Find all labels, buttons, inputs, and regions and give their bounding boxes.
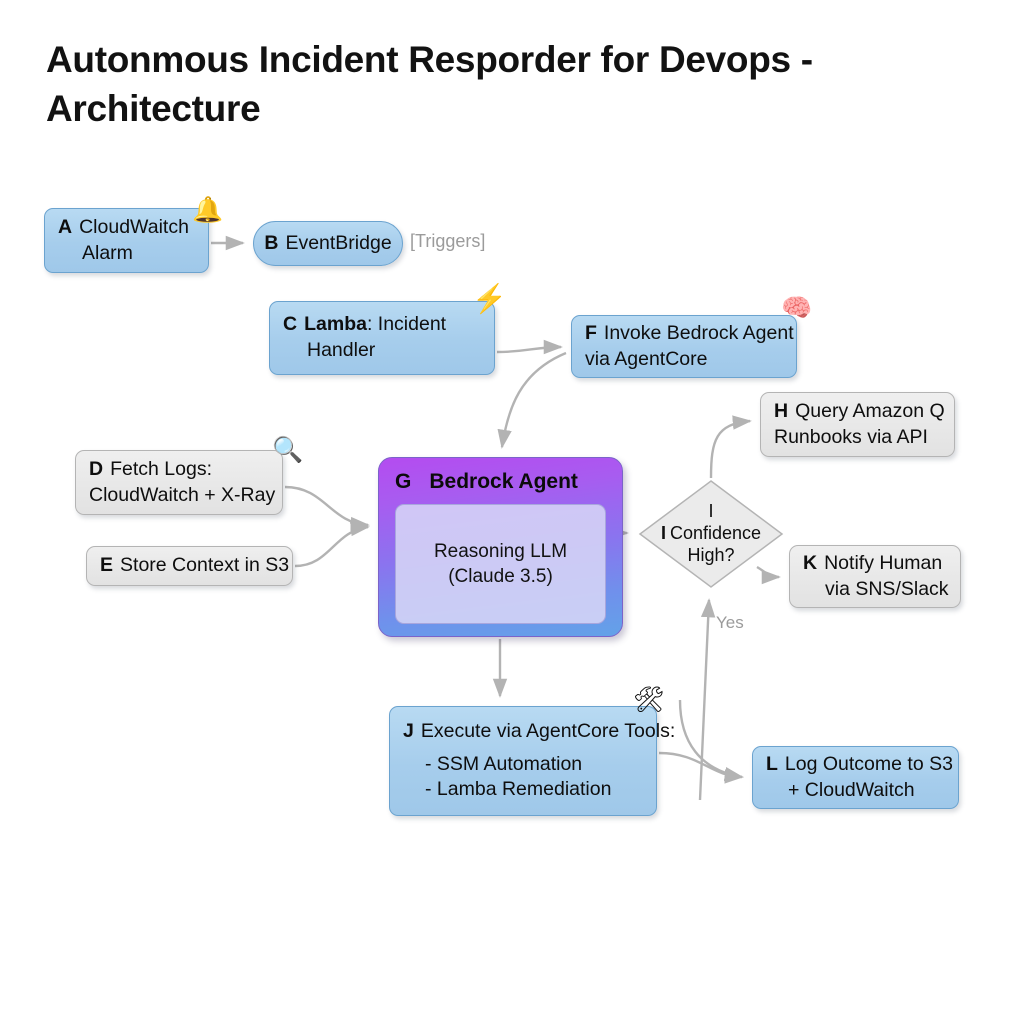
lightning-bolt-icon: ⚡ (472, 285, 507, 313)
node-c-line2: Handler (307, 338, 481, 364)
alarm-bell-icon: 🔔 (192, 198, 223, 223)
node-k-key: K (803, 552, 817, 574)
node-i-label: I IConfidence High? (637, 478, 785, 590)
node-i-line2: High? (687, 545, 734, 567)
node-g-bedrock-agent[interactable]: GBedrock Agent Reasoning LLM (Claude 3.5… (378, 457, 623, 637)
edge-f-to-g (502, 353, 566, 447)
node-c-key: C (283, 313, 297, 335)
node-a-key: A (58, 216, 72, 238)
node-k-notify-human[interactable]: KNotify Human via SNS/Slack (789, 545, 961, 608)
node-a-line1: CloudWaitch (79, 216, 189, 238)
node-j-line3: - Lamba Remediation (425, 777, 643, 803)
node-j-execute-agentcore-tools[interactable]: JExecute via AgentCore Tools: - SSM Auto… (389, 706, 657, 816)
node-f-line1: Invoke Bedrock Agent (604, 322, 794, 344)
node-e-store-context-s3[interactable]: EStore Context in S3 (86, 546, 293, 586)
edge-label-triggers: [Triggers] (410, 231, 485, 252)
brain-icon: 🧠 (781, 296, 812, 321)
node-l-log-outcome[interactable]: LLog Outcome to S3 + CloudWaitch (752, 746, 959, 809)
node-f-line2: via AgentCore (585, 347, 783, 373)
edge-k-to-l (680, 700, 742, 777)
node-d-line2: CloudWaitch + X-Ray (89, 483, 269, 509)
node-i-line1: Confidence (670, 523, 761, 543)
node-i-confidence-decision[interactable]: I IConfidence High? (637, 478, 785, 590)
node-g-key: G (395, 470, 411, 493)
node-f-key: F (585, 322, 597, 344)
node-d-fetch-logs[interactable]: DFetch Logs: CloudWaitch + X-Ray (75, 450, 283, 515)
node-g-inner-line2: (Claude 3.5) (448, 564, 553, 589)
node-c-lambda-incident-handler[interactable]: CLamba: Incident Handler (269, 301, 495, 375)
node-b-key: B (264, 231, 278, 257)
node-c-strong: Lamba (304, 313, 367, 335)
node-l-line2: + CloudWaitch (788, 778, 945, 804)
node-e-key: E (100, 554, 113, 576)
node-k-line2: via SNS/Slack (825, 577, 947, 603)
node-e-line1: Store Context in S3 (120, 554, 289, 576)
node-j-line1: Execute via AgentCore Tools: (421, 720, 675, 742)
node-g-title-row: GBedrock Agent (395, 470, 606, 494)
edge-j-to-i (700, 600, 709, 800)
node-l-key: L (766, 753, 778, 775)
node-a-cloudwatch-alarm[interactable]: ACloudWaitch Alarm (44, 208, 209, 273)
edge-e-to-g (295, 527, 368, 566)
node-i-key: I (661, 523, 666, 543)
node-g-title: Bedrock Agent (429, 470, 578, 493)
node-h-line2: Runbooks via API (774, 425, 941, 451)
node-c-line1: : Incident (367, 313, 446, 335)
magnifier-icon: 🔍 (272, 438, 303, 463)
node-d-key: D (89, 458, 103, 480)
edge-c-to-f (497, 347, 561, 352)
edge-d-to-g (285, 487, 368, 525)
node-h-line1: Query Amazon Q (795, 400, 945, 422)
node-d-line1: Fetch Logs: (110, 458, 212, 480)
node-g-inner-reasoning-llm: Reasoning LLM (Claude 3.5) (395, 504, 606, 624)
node-f-invoke-bedrock-agent[interactable]: FInvoke Bedrock Agent via AgentCore (571, 315, 797, 378)
node-l-line1: Log Outcome to S3 (785, 753, 953, 775)
diagram-canvas: Autonmous Incident Resporder for Devops … (0, 0, 1024, 1024)
node-b-eventbridge[interactable]: BEventBridge (253, 221, 403, 266)
node-h-query-amazon-q[interactable]: HQuery Amazon Q Runbooks via API (760, 392, 955, 457)
node-a-line2: Alarm (82, 241, 195, 267)
node-g-inner-line1: Reasoning LLM (434, 539, 567, 564)
node-j-key: J (403, 720, 414, 742)
node-b-line1: EventBridge (285, 231, 391, 257)
tools-icon: 🛠 (633, 688, 665, 713)
node-k-line1: Notify Human (824, 552, 942, 574)
edge-i-to-h (711, 421, 750, 478)
node-h-key: H (774, 400, 788, 422)
node-i-top: I (708, 501, 713, 523)
node-j-line2: - SSM Automation (425, 752, 643, 778)
edge-label-yes: Yes (716, 613, 744, 633)
edge-j-to-l (659, 753, 742, 777)
page-title: Autonmous Incident Resporder for Devops … (46, 36, 896, 134)
